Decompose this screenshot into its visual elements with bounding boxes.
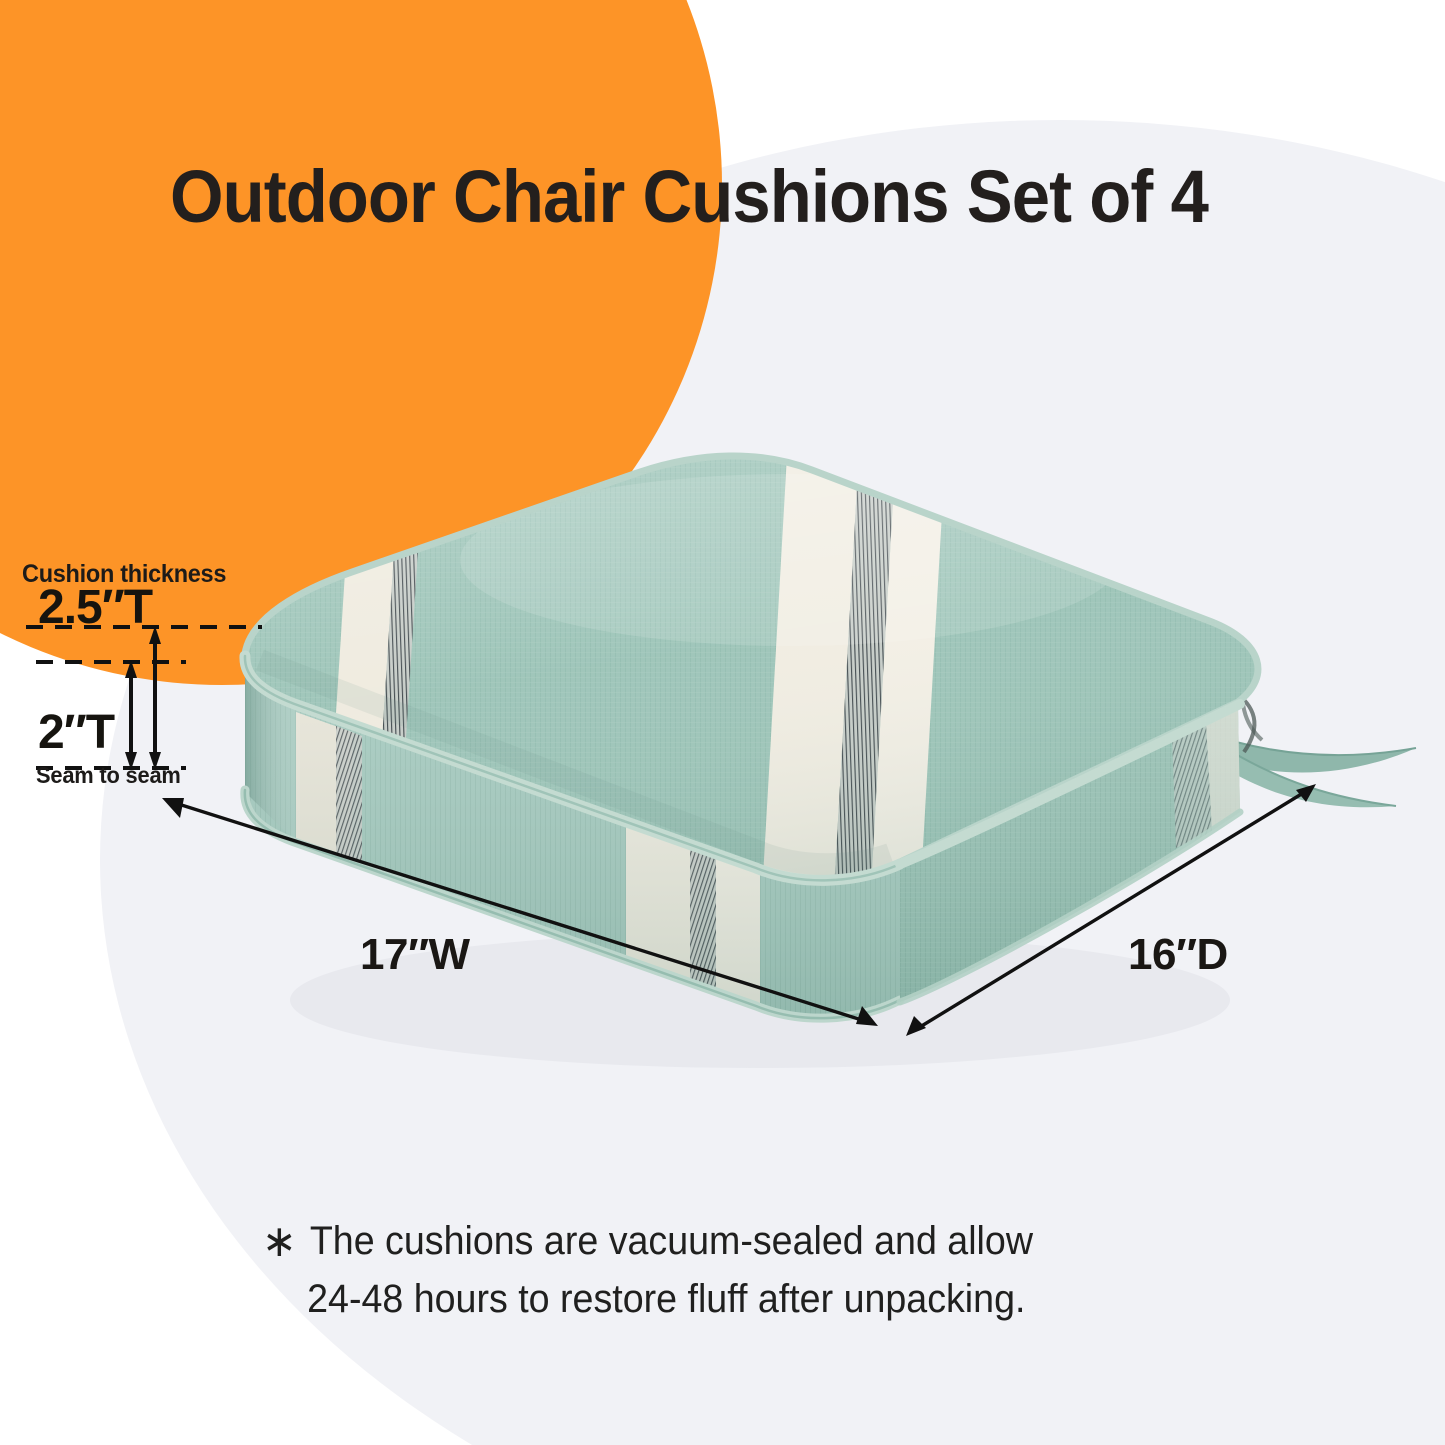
footnote-line-1: The cushions are vacuum-sealed and allow <box>310 1219 1033 1263</box>
footnote-line-2: 24-48 hours to restore fluff after unpac… <box>307 1270 1183 1328</box>
thickness-arrow-outer <box>149 626 161 770</box>
footnote: ∗The cushions are vacuum-sealed and allo… <box>262 1212 1183 1328</box>
seam-to-seam-caption: Seam to seam <box>36 762 181 789</box>
thickness-arrow-inner <box>125 660 137 770</box>
overall-thickness-value: 2.5″T <box>38 580 152 635</box>
page-title: Outdoor Chair Cushions Set of 4 <box>170 160 1267 234</box>
cushion-tie-straps <box>1228 672 1416 807</box>
infographic-canvas: Outdoor Chair Cushions Set of 4 Cushion … <box>0 0 1445 1445</box>
footnote-asterisk-icon: ∗ <box>262 1217 297 1266</box>
depth-dimension-label: 16″D <box>1128 930 1228 980</box>
width-dimension-label: 17″W <box>360 930 470 980</box>
seam-thickness-value: 2″T <box>38 705 114 760</box>
